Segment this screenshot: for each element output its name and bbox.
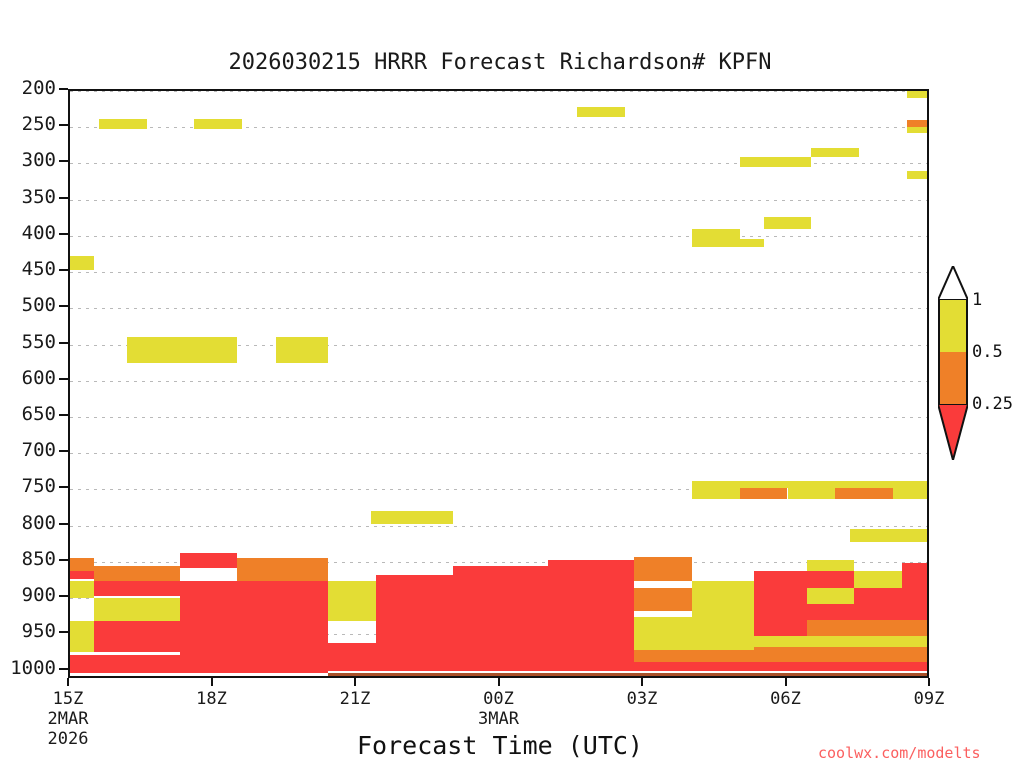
y-axis-tick-label: 400 bbox=[22, 224, 56, 243]
x-axis-tick-mark bbox=[211, 678, 213, 686]
colorbar-segment bbox=[938, 300, 968, 352]
y-axis-tick-mark bbox=[59, 631, 68, 633]
heatmap-cell bbox=[692, 488, 740, 499]
colorbar-segment bbox=[938, 352, 968, 404]
y-axis-tick-label: 900 bbox=[22, 586, 56, 605]
heatmap-cell bbox=[764, 217, 812, 229]
x-axis-tick-mark bbox=[498, 678, 500, 686]
grid-line bbox=[70, 200, 927, 201]
heatmap-cell bbox=[70, 571, 94, 580]
heatmap-cell bbox=[94, 581, 180, 596]
y-axis-tick-mark bbox=[59, 595, 68, 597]
heatmap-cell bbox=[634, 636, 754, 650]
x-axis-tick-mark bbox=[641, 678, 643, 686]
y-axis-tick-mark bbox=[59, 668, 68, 670]
y-axis-tick-label: 200 bbox=[22, 79, 56, 98]
y-axis-tick-mark bbox=[59, 160, 68, 162]
heatmap-cell bbox=[907, 91, 929, 98]
heatmap-cell bbox=[692, 481, 929, 488]
heatmap-cell bbox=[907, 171, 929, 180]
heatmap-cell bbox=[70, 621, 94, 652]
forecast-chart-root: 2026030215 HRRR Forecast Richardson# KPF… bbox=[0, 0, 1024, 768]
x-axis-date-label: 2MAR bbox=[28, 710, 108, 729]
heatmap-cell bbox=[70, 673, 328, 677]
y-axis-tick-label: 800 bbox=[22, 514, 56, 533]
colorbar-bottom-triangle bbox=[938, 404, 968, 460]
heatmap-cell bbox=[127, 337, 237, 362]
grid-line bbox=[70, 417, 927, 418]
heatmap-cell bbox=[807, 588, 855, 604]
y-axis-tick-mark bbox=[59, 88, 68, 90]
heatmap-cell bbox=[376, 607, 634, 643]
y-axis-tick-mark bbox=[59, 197, 68, 199]
y-axis-tick-label: 950 bbox=[22, 622, 56, 641]
grid-line bbox=[70, 526, 927, 527]
heatmap-cell bbox=[854, 571, 902, 588]
heatmap-cell bbox=[70, 558, 94, 570]
heatmap-cell bbox=[754, 647, 929, 661]
y-axis-tick-label: 450 bbox=[22, 260, 56, 279]
heatmap-cell bbox=[94, 621, 180, 652]
heatmap-cell bbox=[754, 617, 807, 636]
y-axis-tick-label: 350 bbox=[22, 188, 56, 207]
y-axis-tick-label: 700 bbox=[22, 441, 56, 460]
x-axis-tick-mark bbox=[928, 678, 930, 686]
heatmap-cell bbox=[893, 488, 929, 499]
heatmap-cell bbox=[328, 598, 376, 621]
heatmap-cell bbox=[194, 119, 242, 129]
heatmap-cell bbox=[835, 488, 892, 499]
heatmap-cell bbox=[740, 157, 812, 167]
x-axis-tick-label: 00Z bbox=[459, 690, 539, 709]
colorbar-tick-label: 0.5 bbox=[972, 344, 1003, 361]
heatmap-cell bbox=[180, 607, 328, 640]
y-axis-tick-label: 750 bbox=[22, 477, 56, 496]
y-axis-tick-mark bbox=[59, 378, 68, 380]
heatmap-cell bbox=[180, 640, 328, 654]
colorbar-tick-label: 0.25 bbox=[972, 396, 1013, 413]
heatmap-cell bbox=[180, 553, 237, 567]
heatmap-cell bbox=[907, 127, 929, 133]
x-axis-tick-mark bbox=[354, 678, 356, 686]
grid-line bbox=[70, 308, 927, 309]
heatmap-cell bbox=[907, 120, 929, 127]
terrain-fill bbox=[328, 673, 929, 678]
grid-line bbox=[70, 272, 927, 273]
y-axis-tick-label: 1000 bbox=[10, 659, 56, 678]
y-axis-tick-mark bbox=[59, 523, 68, 525]
heatmap-cell bbox=[740, 488, 788, 499]
heatmap-cell bbox=[754, 571, 807, 588]
x-axis-tick-label: 03Z bbox=[602, 690, 682, 709]
heatmap-cell bbox=[577, 107, 625, 117]
x-axis-tick-mark bbox=[67, 678, 69, 686]
heatmap-cell bbox=[99, 119, 147, 129]
heatmap-cell bbox=[328, 656, 634, 667]
heatmap-cell bbox=[807, 604, 855, 620]
heatmap-cell bbox=[94, 566, 180, 580]
x-axis-tick-mark bbox=[785, 678, 787, 686]
grid-line bbox=[70, 453, 927, 454]
y-axis-tick-label: 500 bbox=[22, 296, 56, 315]
heatmap-cell bbox=[70, 256, 94, 270]
y-axis-tick-mark bbox=[59, 414, 68, 416]
y-axis-tick-label: 600 bbox=[22, 369, 56, 388]
y-axis-tick-label: 300 bbox=[22, 151, 56, 170]
page-title: 2026030215 HRRR Forecast Richardson# KPF… bbox=[0, 50, 1000, 75]
x-axis-tick-label: 09Z bbox=[889, 690, 969, 709]
heatmap-cell bbox=[70, 581, 94, 598]
heatmap-cell bbox=[850, 529, 929, 541]
y-axis-tick-label: 250 bbox=[22, 115, 56, 134]
heatmap-cell bbox=[548, 560, 634, 606]
heatmap-cell bbox=[692, 229, 740, 238]
heatmap-cell bbox=[328, 643, 452, 656]
heatmap-cell bbox=[180, 581, 328, 607]
colorbar-top-triangle bbox=[938, 266, 968, 300]
heatmap-cell bbox=[692, 596, 754, 617]
heatmap-cell bbox=[634, 588, 691, 611]
heatmap-cell bbox=[902, 563, 929, 588]
heatmap-cell bbox=[854, 588, 929, 620]
plot-area[interactable] bbox=[68, 89, 929, 678]
y-axis-tick-mark bbox=[59, 486, 68, 488]
terrain-fill bbox=[70, 677, 328, 678]
heatmap-cell bbox=[754, 588, 807, 617]
heatmap-cell bbox=[371, 511, 452, 524]
heatmap-cell bbox=[807, 620, 929, 636]
heatmap-cell bbox=[807, 560, 855, 570]
grid-line bbox=[70, 381, 927, 382]
heatmap-cell bbox=[788, 488, 836, 499]
y-axis-tick-mark bbox=[59, 233, 68, 235]
heatmap-cell bbox=[453, 566, 549, 607]
y-axis-tick-mark bbox=[59, 559, 68, 561]
y-axis-tick-mark bbox=[59, 269, 68, 271]
x-axis-tick-label: 15Z bbox=[28, 690, 108, 709]
heatmap-cell bbox=[634, 617, 754, 636]
x-axis-tick-label: 18Z bbox=[172, 690, 252, 709]
heatmap-cell bbox=[692, 239, 764, 247]
heatmap-cell bbox=[70, 655, 328, 667]
heatmap-cell bbox=[811, 148, 859, 157]
grid-line bbox=[70, 91, 927, 92]
grid-line bbox=[70, 236, 927, 237]
heatmap-cell bbox=[634, 557, 691, 581]
heatmap-cell bbox=[692, 581, 754, 596]
heatmap-cell bbox=[328, 581, 376, 598]
y-axis-tick-mark bbox=[59, 305, 68, 307]
y-axis-tick-label: 850 bbox=[22, 550, 56, 569]
x-axis-date-label: 3MAR bbox=[459, 710, 539, 729]
y-axis-tick-label: 650 bbox=[22, 405, 56, 424]
heatmap-cell bbox=[754, 636, 929, 648]
y-axis-tick-label: 550 bbox=[22, 333, 56, 352]
y-axis-tick-mark bbox=[59, 124, 68, 126]
x-axis-tick-label: 21Z bbox=[315, 690, 395, 709]
heatmap-cell bbox=[376, 575, 453, 607]
y-axis-tick-mark bbox=[59, 450, 68, 452]
y-axis-tick-mark bbox=[59, 342, 68, 344]
colorbar-tick-label: 1 bbox=[972, 292, 982, 309]
heatmap-cell bbox=[634, 650, 754, 662]
colorbar[interactable]: 10.50.25 bbox=[938, 300, 968, 470]
heatmap-cell bbox=[453, 643, 635, 656]
source-watermark: coolwx.com/modelts bbox=[818, 744, 981, 762]
heatmap-cell bbox=[237, 558, 328, 580]
heatmap-cell bbox=[807, 571, 855, 588]
heatmap-cell bbox=[94, 598, 180, 621]
x-axis-tick-label: 06Z bbox=[746, 690, 826, 709]
heatmap-cell bbox=[276, 337, 329, 362]
